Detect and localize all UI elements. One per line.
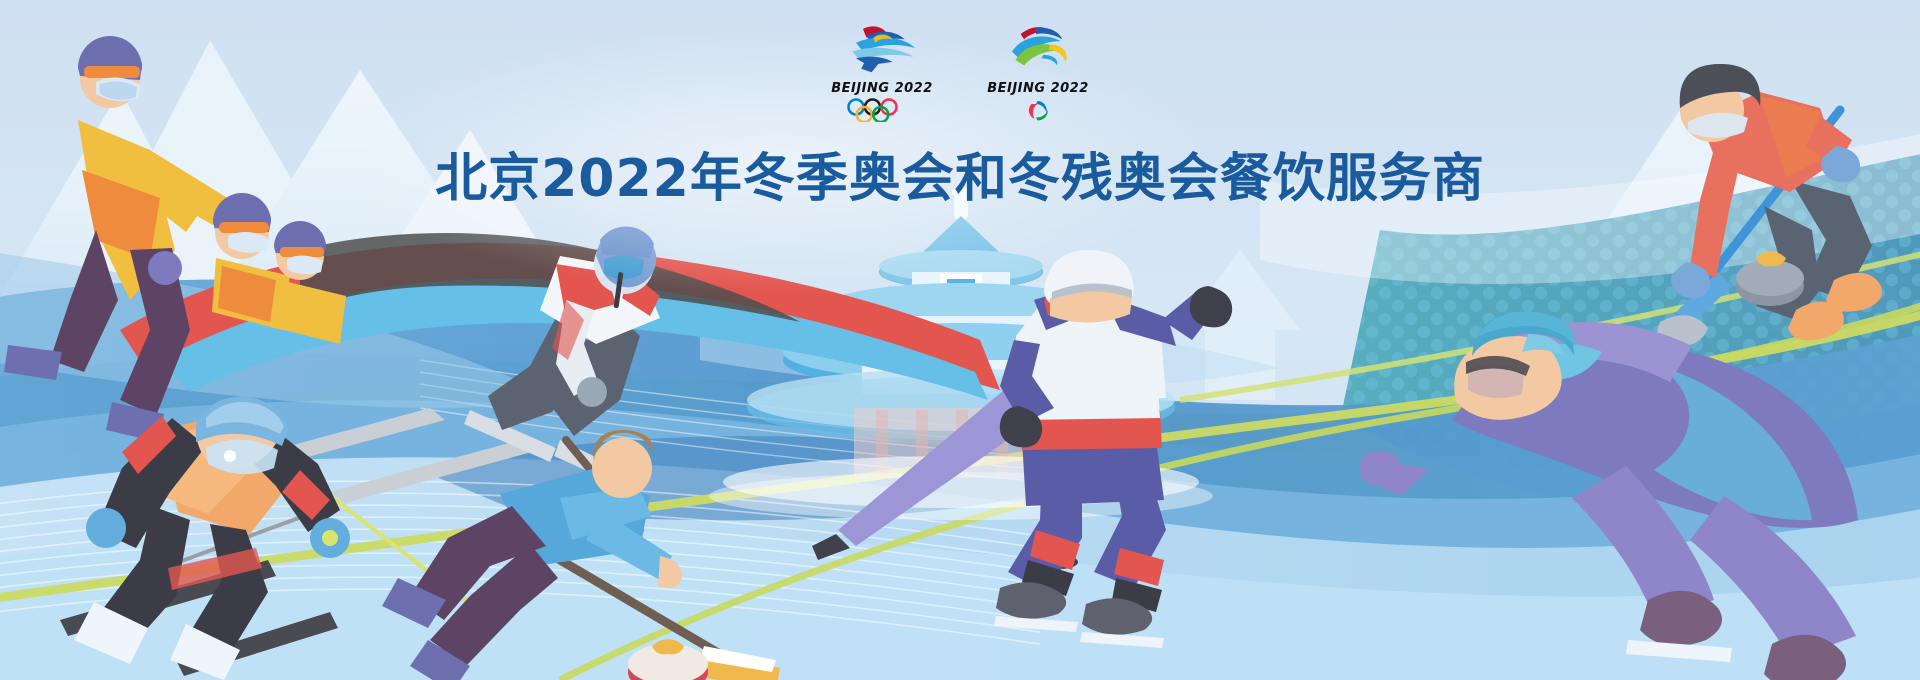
agitos-icon	[997, 98, 1080, 122]
paralympic-emblem: BEIJING 2022	[984, 22, 1092, 127]
speed-skater-right	[1360, 312, 1858, 680]
cross-country-skier	[60, 397, 492, 680]
olympic-banner: BEIJING 2022 BEIJING 2022	[0, 0, 1920, 680]
olympic-emblem: BEIJING 2022	[828, 22, 936, 127]
beijing2022-olympic-mark	[830, 22, 934, 74]
emblem-group: BEIJING 2022 BEIJING 2022	[0, 22, 1920, 127]
olympic-wordmark: BEIJING 2022	[828, 81, 936, 96]
olympic-rings-icon	[841, 98, 924, 122]
beijing2022-paralympic-mark	[986, 22, 1090, 74]
paralympic-wordmark: BEIJING 2022	[984, 81, 1092, 96]
